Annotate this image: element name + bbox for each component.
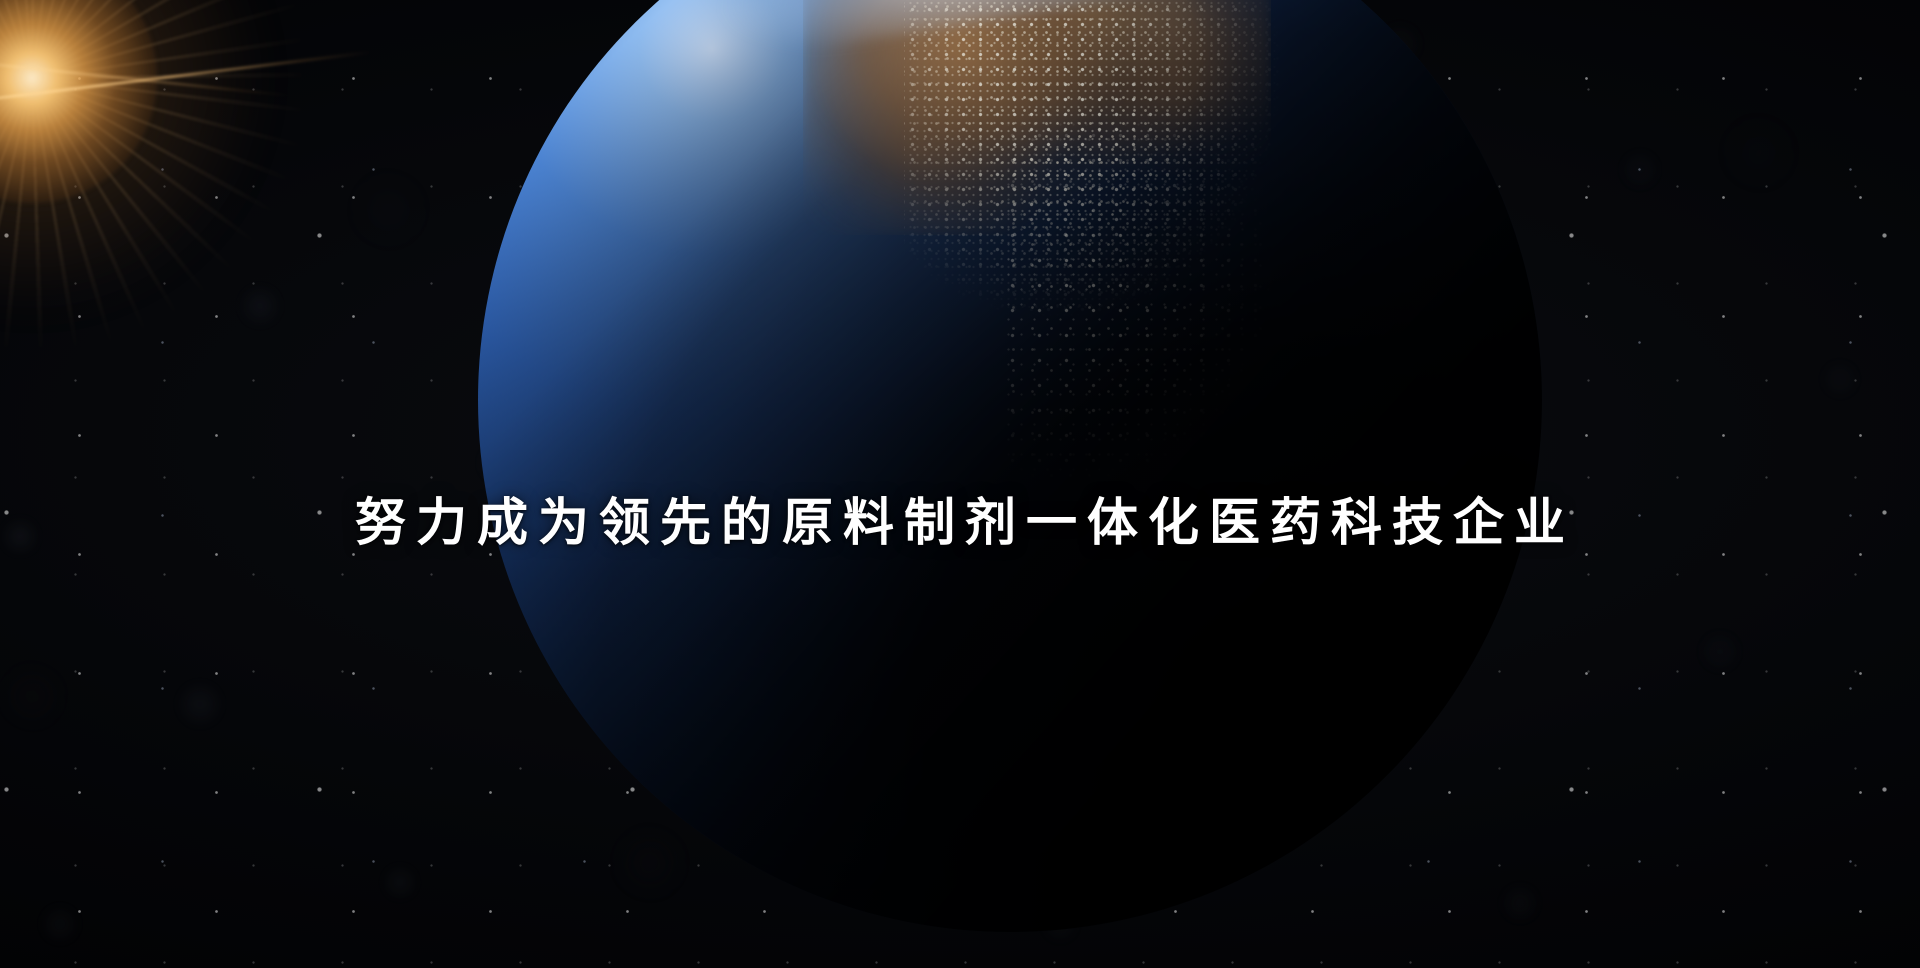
hero-banner-stage: 努力成为领先的原料制剂一体化医药科技企业 [0, 0, 1920, 968]
hero-headline: 努力成为领先的原料制剂一体化医药科技企业 [345, 495, 1575, 551]
starfield-bright-stars [0, 0, 1920, 968]
headline-layer: 努力成为领先的原料制剂一体化医药科技企业 [0, 495, 1920, 551]
